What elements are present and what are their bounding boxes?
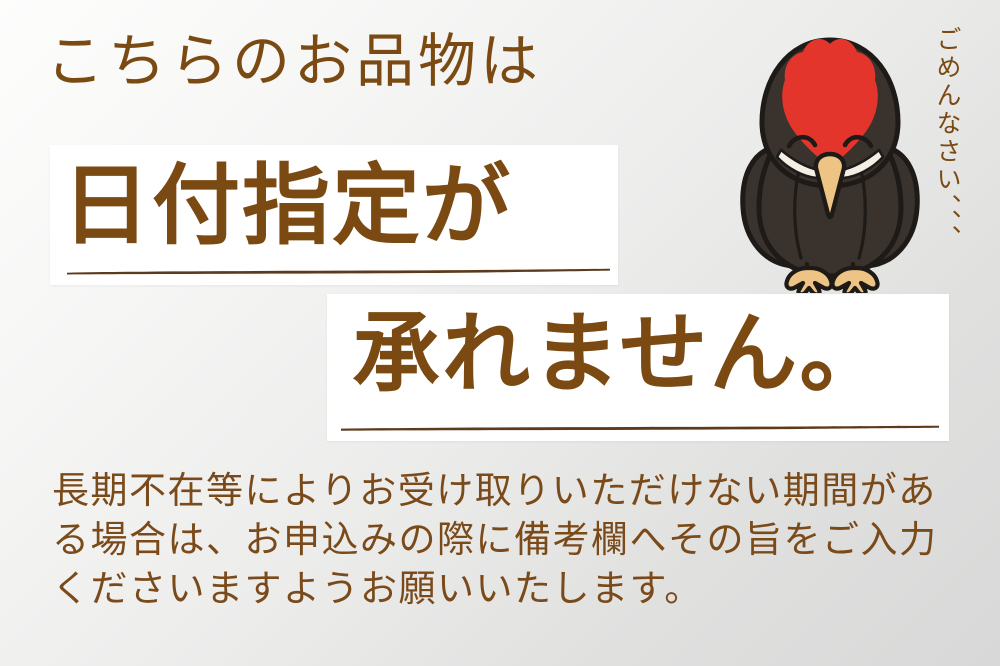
headline-line-2: 日付指定が bbox=[62, 162, 512, 250]
headline-underline-2 bbox=[340, 425, 940, 432]
headline-line-3: 承れません。 bbox=[352, 310, 889, 398]
apology-vertical-text: ごめんなさい、、、 bbox=[918, 26, 962, 284]
woodpecker-mascot-icon bbox=[735, 18, 925, 293]
notice-banner: こちらのお品物は 日付指定が 承れません。 長期不在等によりお受け取りいただけな… bbox=[0, 0, 1000, 666]
headline-line-1: こちらのお品物は bbox=[46, 32, 542, 90]
body-paragraph: 長期不在等によりお受け取りいただけない期間がある場合は、お申込みの際に備考欄へそ… bbox=[52, 466, 957, 613]
headline-underline-1 bbox=[66, 268, 611, 275]
